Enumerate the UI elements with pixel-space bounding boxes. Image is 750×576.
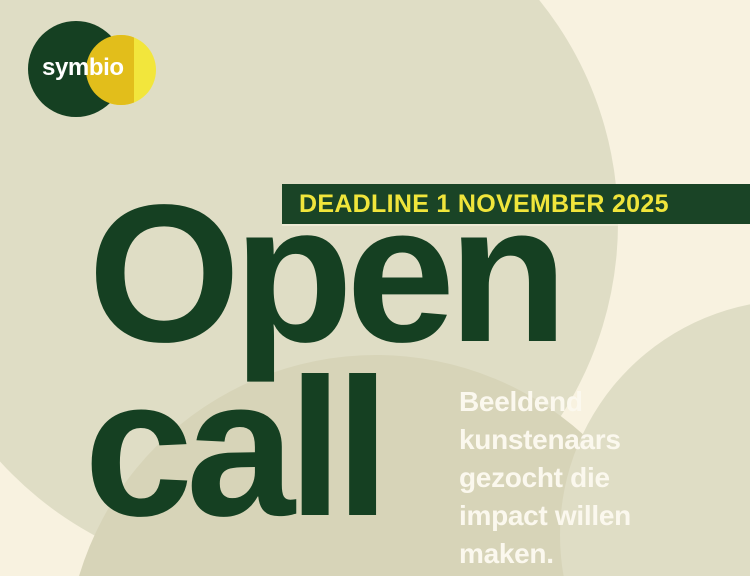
logo-wordmark: symbio (42, 56, 152, 80)
subhead-line: maken. (459, 535, 709, 573)
subhead-line: gezocht die (459, 459, 709, 497)
subhead-line: impact willen (459, 497, 709, 535)
symbio-logo[interactable]: symbio (28, 18, 156, 114)
subhead-line: Beeldend (459, 383, 709, 421)
subhead-line: kunstenaars (459, 421, 709, 459)
headline-line-1: Open (88, 196, 750, 353)
subhead-block: Beeldend kunstenaars gezocht die impact … (459, 383, 709, 573)
open-call-poster: symbio DEADLINE 1 NOVEMBER 2025 Open cal… (0, 0, 750, 576)
